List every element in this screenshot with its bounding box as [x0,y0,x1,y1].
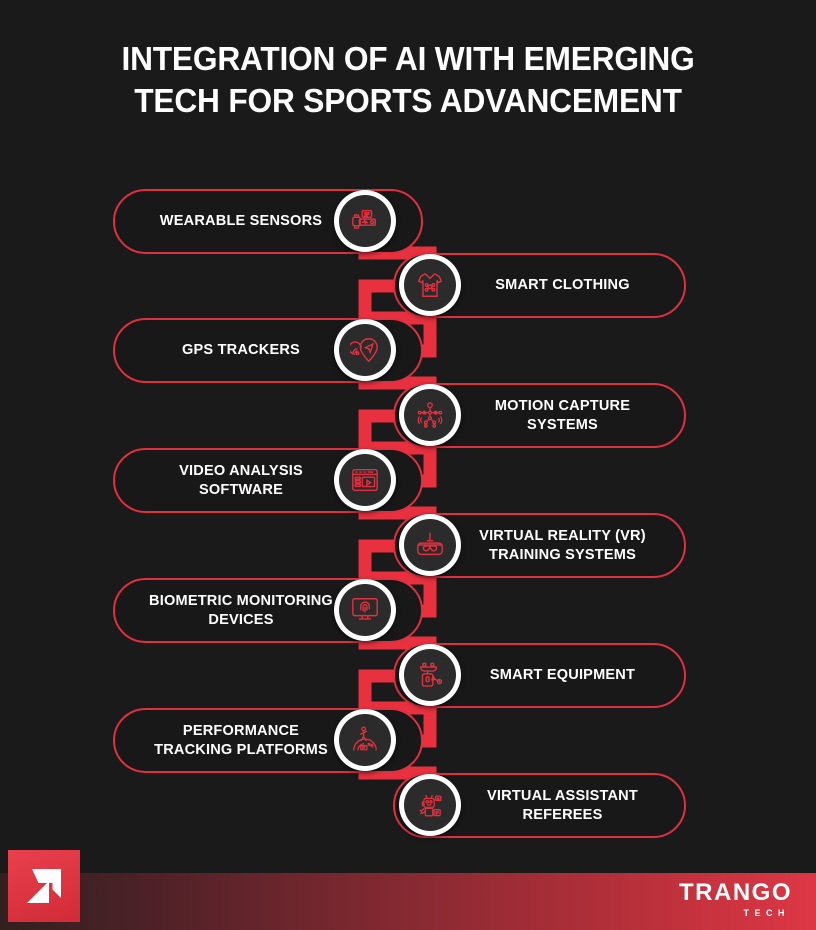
brand-suffix: TECH [679,909,790,918]
smart-shirt-icon [404,259,456,311]
diagram-row: GPS TRACKERS [0,318,816,383]
item-node-wearable-sensors[interactable] [334,190,396,252]
fingerprint-monitor-icon [339,584,391,636]
item-label: VIDEO ANALYSIS SOFTWARE [142,462,340,499]
item-node-performance-tracking-platforms[interactable] [334,709,396,771]
diagram-row: SMART EQUIPMENT [0,643,816,708]
trango-arrow-logo [8,850,80,922]
diagram-row: VIRTUAL ASSISTANT REFEREES [0,773,816,838]
item-node-smart-clothing[interactable] [399,254,461,316]
brand-name: TRANGO [679,881,792,905]
item-label: VIRTUAL REALITY (VR) TRAINING SYSTEMS [470,527,655,564]
item-label: VIRTUAL ASSISTANT REFEREES [470,787,655,824]
item-node-virtual-assistant-referees[interactable] [399,774,461,836]
item-label: MOTION CAPTURE SYSTEMS [470,397,655,434]
video-player-window-icon [339,454,391,506]
page-title-line-2: TECH FOR SPORTS ADVANCEMENT [45,80,771,122]
athlete-podium-chart-icon [339,714,391,766]
diagram-row: PERFORMANCE TRACKING PLATFORMS [0,708,816,773]
vr-headset-icon [404,519,456,571]
footer: TRANGO TECH [0,850,816,930]
motion-capture-figure-icon [404,389,456,441]
item-node-gps-trackers[interactable] [334,319,396,381]
item-node-biometric-monitoring-devices[interactable] [334,579,396,641]
item-label: SMART CLOTHING [470,276,655,294]
item-node-vr-training-systems[interactable] [399,514,461,576]
page-title: INTEGRATION OF AI WITH EMERGING TECH FOR… [0,38,816,121]
infographic-diagram: WEARABLE SENSORS SMART CLOTHING [0,175,816,840]
brand-lockup: TRANGO TECH [679,881,792,918]
item-node-video-analysis-software[interactable] [334,449,396,511]
diagram-row: SMART CLOTHING [0,253,816,318]
gps-location-pin-icon [339,324,391,376]
diagram-row: WEARABLE SENSORS [0,189,816,254]
item-label: GPS TRACKERS [142,341,340,359]
item-node-smart-equipment[interactable] [399,644,461,706]
robot-referee-whistle-icon [404,779,456,831]
diagram-row: MOTION CAPTURE SYSTEMS [0,383,816,448]
diagram-row: VIDEO ANALYSIS SOFTWARE [0,448,816,513]
page-title-line-1: INTEGRATION OF AI WITH EMERGING [45,38,771,80]
item-label: WEARABLE SENSORS [142,212,340,230]
diagram-row: BIOMETRIC MONITORING DEVICES [0,578,816,643]
item-label: SMART EQUIPMENT [470,666,655,684]
item-node-motion-capture-systems[interactable] [399,384,461,446]
item-label: PERFORMANCE TRACKING PLATFORMS [142,722,340,759]
smartwatch-sensor-icon [339,195,391,247]
diagram-row: VIRTUAL REALITY (VR) TRAINING SYSTEMS [0,513,816,578]
item-label: BIOMETRIC MONITORING DEVICES [142,592,340,629]
smart-gym-equipment-icon [404,649,456,701]
